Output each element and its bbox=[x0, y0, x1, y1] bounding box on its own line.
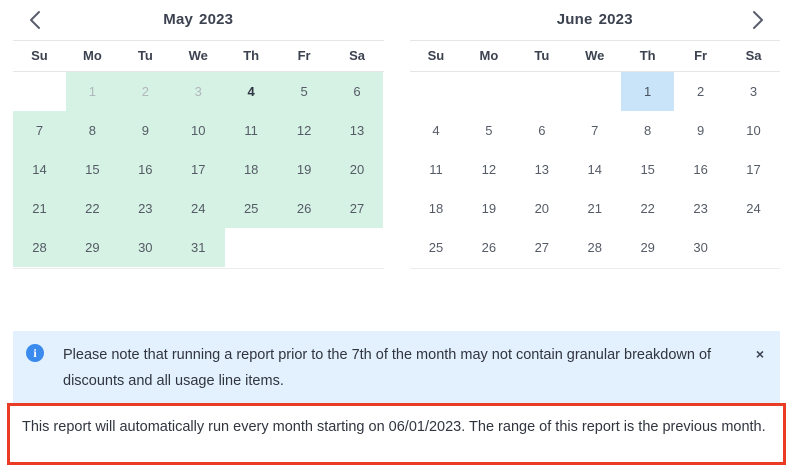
weekday-fr: Fr bbox=[278, 41, 331, 71]
day-cell-28[interactable]: 28 bbox=[568, 228, 621, 267]
weekday-sa: Sa bbox=[331, 41, 384, 71]
day-cell-18[interactable]: 18 bbox=[410, 189, 463, 228]
weekday-mo: Mo bbox=[462, 41, 515, 71]
month-title-right: June2023 bbox=[410, 0, 781, 40]
day-grid-left: 1234567891011121314151617181920212223242… bbox=[13, 72, 384, 267]
day-cell-8[interactable]: 8 bbox=[66, 111, 119, 150]
weekday-header-right: SuMoTuWeThFrSa bbox=[410, 40, 781, 72]
day-cell-12[interactable]: 12 bbox=[278, 111, 331, 150]
weekday-su: Su bbox=[13, 41, 66, 71]
day-cell-21[interactable]: 21 bbox=[13, 189, 66, 228]
day-cell-11[interactable]: 11 bbox=[225, 111, 278, 150]
day-cell-19[interactable]: 19 bbox=[462, 189, 515, 228]
month-name-left: May bbox=[163, 11, 193, 28]
day-cell-6[interactable]: 6 bbox=[515, 111, 568, 150]
day-cell-30[interactable]: 30 bbox=[674, 228, 727, 267]
day-cell-8[interactable]: 8 bbox=[621, 111, 674, 150]
day-cell-7[interactable]: 7 bbox=[568, 111, 621, 150]
day-cell-14[interactable]: 14 bbox=[13, 150, 66, 189]
day-cell-9[interactable]: 9 bbox=[119, 111, 172, 150]
calendar-month-left: May2023 SuMoTuWeThFrSa 12345678910111213… bbox=[0, 0, 397, 269]
day-cell-22[interactable]: 22 bbox=[621, 189, 674, 228]
day-cell-29[interactable]: 29 bbox=[621, 228, 674, 267]
info-icon: i bbox=[26, 344, 44, 362]
day-cell-24[interactable]: 24 bbox=[727, 189, 780, 228]
day-cell-11[interactable]: 11 bbox=[410, 150, 463, 189]
day-cell-1[interactable]: 1 bbox=[66, 72, 119, 111]
day-cell-28[interactable]: 28 bbox=[13, 228, 66, 267]
day-cell-17[interactable]: 17 bbox=[172, 150, 225, 189]
day-cell-31[interactable]: 31 bbox=[172, 228, 225, 267]
day-cell-empty bbox=[727, 228, 780, 267]
day-cell-27[interactable]: 27 bbox=[331, 189, 384, 228]
weekday-th: Th bbox=[621, 41, 674, 71]
day-grid-right: 1234567891011121314151617181920212223242… bbox=[410, 72, 781, 267]
day-cell-18[interactable]: 18 bbox=[225, 150, 278, 189]
day-cell-13[interactable]: 13 bbox=[515, 150, 568, 189]
day-cell-21[interactable]: 21 bbox=[568, 189, 621, 228]
month-divider-left bbox=[13, 268, 384, 269]
weekday-tu: Tu bbox=[515, 41, 568, 71]
day-cell-13[interactable]: 13 bbox=[331, 111, 384, 150]
day-cell-4[interactable]: 4 bbox=[225, 72, 278, 111]
month-title-left: May2023 bbox=[13, 0, 384, 40]
day-cell-16[interactable]: 16 bbox=[674, 150, 727, 189]
next-month-icon[interactable] bbox=[743, 5, 773, 35]
weekday-su: Su bbox=[410, 41, 463, 71]
day-cell-4[interactable]: 4 bbox=[410, 111, 463, 150]
day-cell-2[interactable]: 2 bbox=[674, 72, 727, 111]
day-cell-17[interactable]: 17 bbox=[727, 150, 780, 189]
day-cell-3[interactable]: 3 bbox=[727, 72, 780, 111]
day-cell-14[interactable]: 14 bbox=[568, 150, 621, 189]
day-cell-5[interactable]: 5 bbox=[278, 72, 331, 111]
schedule-note-box: This report will automatically run every… bbox=[7, 403, 786, 465]
day-cell-empty bbox=[225, 228, 278, 267]
day-cell-26[interactable]: 26 bbox=[462, 228, 515, 267]
day-cell-empty bbox=[515, 72, 568, 111]
day-cell-empty bbox=[13, 72, 66, 111]
month-year-left: 2023 bbox=[199, 11, 233, 28]
month-divider-right bbox=[410, 268, 781, 269]
day-cell-6[interactable]: 6 bbox=[331, 72, 384, 111]
day-cell-3[interactable]: 3 bbox=[172, 72, 225, 111]
day-cell-22[interactable]: 22 bbox=[66, 189, 119, 228]
day-cell-20[interactable]: 20 bbox=[331, 150, 384, 189]
calendar-month-right: June2023 SuMoTuWeThFrSa 1234567891011121… bbox=[397, 0, 793, 269]
day-cell-27[interactable]: 27 bbox=[515, 228, 568, 267]
day-cell-empty bbox=[410, 72, 463, 111]
schedule-note-text: This report will automatically run every… bbox=[22, 414, 771, 440]
weekday-fr: Fr bbox=[674, 41, 727, 71]
day-cell-7[interactable]: 7 bbox=[13, 111, 66, 150]
day-cell-29[interactable]: 29 bbox=[66, 228, 119, 267]
day-cell-10[interactable]: 10 bbox=[727, 111, 780, 150]
day-cell-19[interactable]: 19 bbox=[278, 150, 331, 189]
day-cell-5[interactable]: 5 bbox=[462, 111, 515, 150]
info-banner-message: Please note that running a report prior … bbox=[44, 342, 752, 394]
day-cell-16[interactable]: 16 bbox=[119, 150, 172, 189]
date-range-picker-panel: May2023 SuMoTuWeThFrSa 12345678910111213… bbox=[0, 0, 793, 472]
day-cell-9[interactable]: 9 bbox=[674, 111, 727, 150]
day-cell-15[interactable]: 15 bbox=[621, 150, 674, 189]
weekday-tu: Tu bbox=[119, 41, 172, 71]
weekday-we: We bbox=[172, 41, 225, 71]
day-cell-20[interactable]: 20 bbox=[515, 189, 568, 228]
day-cell-10[interactable]: 10 bbox=[172, 111, 225, 150]
close-icon[interactable]: × bbox=[752, 346, 768, 362]
day-cell-empty bbox=[331, 228, 384, 267]
day-cell-26[interactable]: 26 bbox=[278, 189, 331, 228]
day-cell-1[interactable]: 1 bbox=[621, 72, 674, 111]
info-banner: i Please note that running a report prio… bbox=[13, 331, 780, 405]
day-cell-15[interactable]: 15 bbox=[66, 150, 119, 189]
previous-month-icon[interactable] bbox=[20, 5, 50, 35]
day-cell-empty bbox=[278, 228, 331, 267]
day-cell-2[interactable]: 2 bbox=[119, 72, 172, 111]
weekday-header-left: SuMoTuWeThFrSa bbox=[13, 40, 384, 72]
weekday-we: We bbox=[568, 41, 621, 71]
weekday-sa: Sa bbox=[727, 41, 780, 71]
datepicker: May2023 SuMoTuWeThFrSa 12345678910111213… bbox=[0, 0, 793, 269]
day-cell-24[interactable]: 24 bbox=[172, 189, 225, 228]
day-cell-12[interactable]: 12 bbox=[462, 150, 515, 189]
day-cell-23[interactable]: 23 bbox=[674, 189, 727, 228]
month-name-right: June bbox=[557, 11, 593, 28]
day-cell-23[interactable]: 23 bbox=[119, 189, 172, 228]
month-year-right: 2023 bbox=[599, 11, 633, 28]
day-cell-25[interactable]: 25 bbox=[410, 228, 463, 267]
day-cell-30[interactable]: 30 bbox=[119, 228, 172, 267]
day-cell-empty bbox=[568, 72, 621, 111]
weekday-th: Th bbox=[225, 41, 278, 71]
weekday-mo: Mo bbox=[66, 41, 119, 71]
day-cell-25[interactable]: 25 bbox=[225, 189, 278, 228]
day-cell-empty bbox=[462, 72, 515, 111]
